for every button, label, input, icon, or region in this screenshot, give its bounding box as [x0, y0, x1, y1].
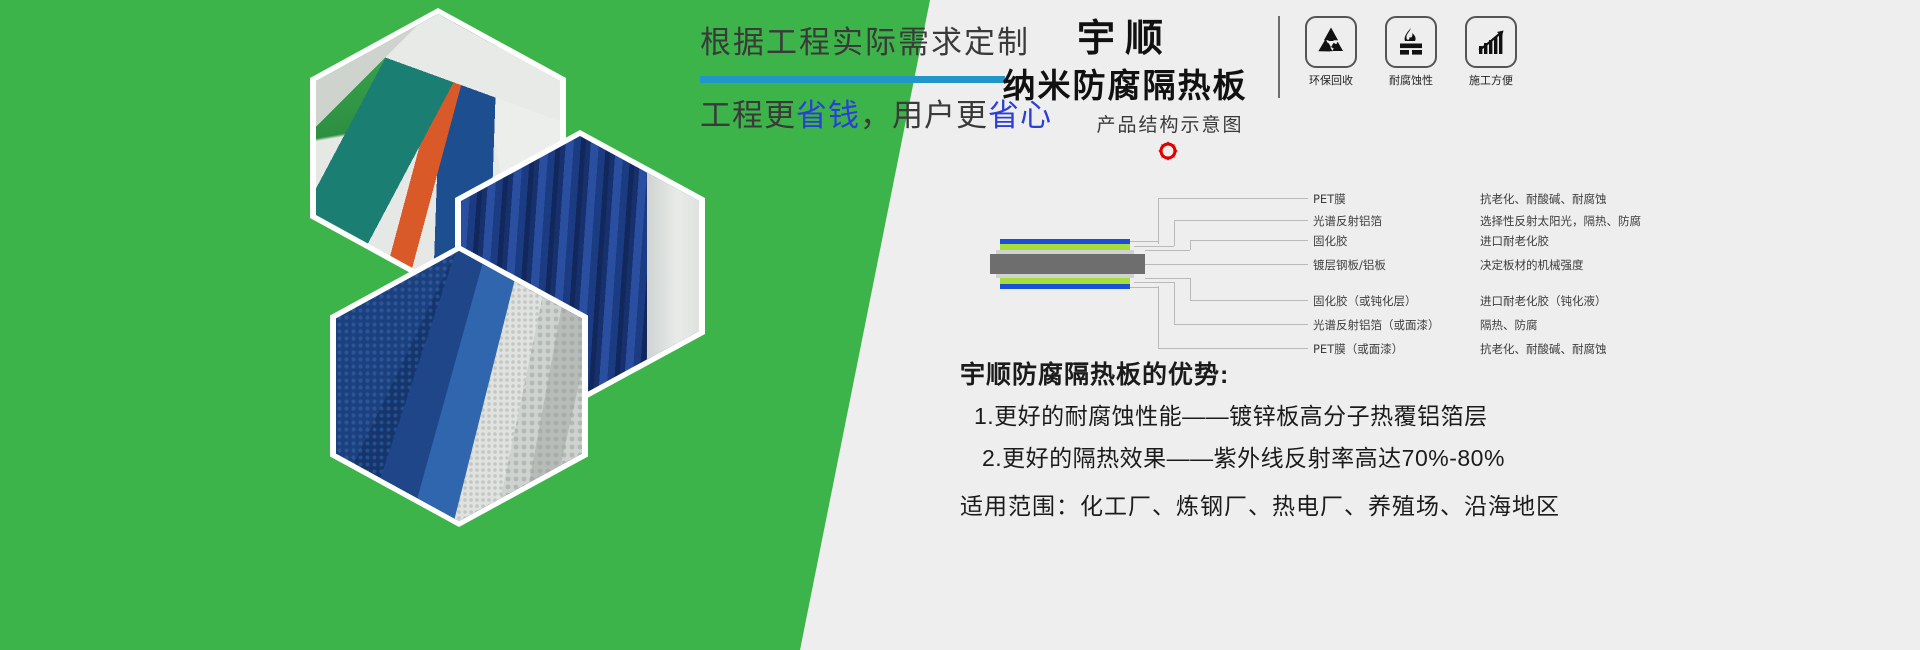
advantage-item: 1.更好的耐腐蚀性能——镀锌板高分子热覆铝箔层 [974, 397, 1488, 431]
promo-banner: 根据工程实际需求定制 工程更省钱，用户更省心 宇顺 纳米防腐隔热板 [0, 0, 1920, 650]
connector-3 [1145, 250, 1190, 251]
feature-badge-list: 环保回收 耐腐蚀性 [1300, 16, 1522, 88]
connector-5 [1134, 282, 1174, 283]
advantages-title-text: 宇顺防腐隔热板的优势 [960, 361, 1220, 389]
badge-label: 耐腐蚀性 [1380, 72, 1442, 88]
brace-6 [1158, 286, 1159, 348]
leader-4 [1145, 264, 1308, 265]
leader-2 [1174, 220, 1308, 221]
brand-block: 宇顺 纳米防腐隔热板 [990, 14, 1260, 108]
advantage-item: 2.更好的隔热效果——紫外线反射率高达70%-80% [982, 439, 1505, 473]
brace-3 [1190, 240, 1191, 250]
brand-product-name: 纳米防腐隔热板 [990, 64, 1260, 108]
layer-description: 进口耐老化胶 [1480, 233, 1549, 249]
layer-description: 决定板材的机械强度 [1480, 257, 1584, 273]
headline-highlight-save-money: 省钱 [796, 98, 860, 133]
brace-4 [1190, 278, 1191, 300]
connector-2 [1134, 246, 1174, 247]
badge-box [1465, 16, 1517, 68]
easy-installation-icon [1474, 25, 1508, 59]
layer-description: 选择性反射太阳光，隔热、防腐 [1480, 213, 1641, 229]
application-scope: 适用范围：化工厂、炼钢厂、热电厂、养殖场、沿海地区 [960, 487, 1560, 521]
layer-label: 光谱反射铝箔（或面漆） [1313, 317, 1440, 333]
leader-7 [1158, 348, 1308, 349]
layer-label: 光谱反射铝箔 [1313, 213, 1382, 229]
layer-label: PET膜（或面漆） [1313, 341, 1403, 357]
layer-bar-pet-bottom [1000, 284, 1130, 289]
badge-easy-installation: 施工方便 [1460, 16, 1522, 88]
layer-label: PET膜 [1313, 191, 1346, 207]
brand-name: 宇顺 [990, 14, 1260, 62]
badge-corrosion-resistant: 耐腐蚀性 [1380, 16, 1442, 88]
brace-1 [1158, 198, 1159, 244]
connector-6 [1130, 287, 1158, 288]
headline-secondary-part-1: 工程更 [700, 98, 796, 133]
connector-1 [1130, 241, 1158, 242]
leader-3 [1190, 240, 1308, 241]
structure-section-title: 产品结构示意图 [960, 110, 1380, 137]
structure-diagram: PET膜 光谱反射铝箔 固化胶 镀层钢板/铝板 固化胶（或钝化层） 光谱反射铝箔… [960, 180, 1920, 370]
badge-recycle: 环保回收 [1300, 16, 1362, 88]
leader-6 [1174, 324, 1308, 325]
right-content-panel: 宇顺 纳米防腐隔热板 [960, 0, 1920, 650]
layer-description: 隔热、防腐 [1480, 317, 1538, 333]
advantages-title-colon: : [1220, 361, 1229, 389]
layer-bar-steel-core [990, 254, 1145, 274]
layer-label: 固化胶（或钝化层） [1313, 293, 1417, 309]
layer-label: 固化胶 [1313, 233, 1348, 249]
badge-box [1305, 16, 1357, 68]
layer-description: 抗老化、耐酸碱、耐腐蚀 [1480, 341, 1607, 357]
layer-description: 进口耐老化胶（钝化液） [1480, 293, 1607, 309]
layer-description: 抗老化、耐酸碱、耐腐蚀 [1480, 191, 1607, 207]
advantages-title: 宇顺防腐隔热板的优势: [960, 355, 1229, 391]
badge-box [1385, 16, 1437, 68]
brace-2 [1174, 220, 1175, 246]
badge-label: 施工方便 [1460, 72, 1522, 88]
brace-5 [1174, 282, 1175, 324]
layer-label: 镀层钢板/铝板 [1313, 257, 1386, 273]
badge-label: 环保回收 [1300, 72, 1362, 88]
recycle-icon [1314, 25, 1348, 59]
brand-divider [1278, 16, 1280, 98]
leader-1 [1158, 198, 1308, 199]
connector-4 [1145, 278, 1190, 279]
gear-icon [1157, 140, 1179, 162]
corrosion-resistant-icon [1394, 25, 1428, 59]
leader-5 [1190, 300, 1308, 301]
